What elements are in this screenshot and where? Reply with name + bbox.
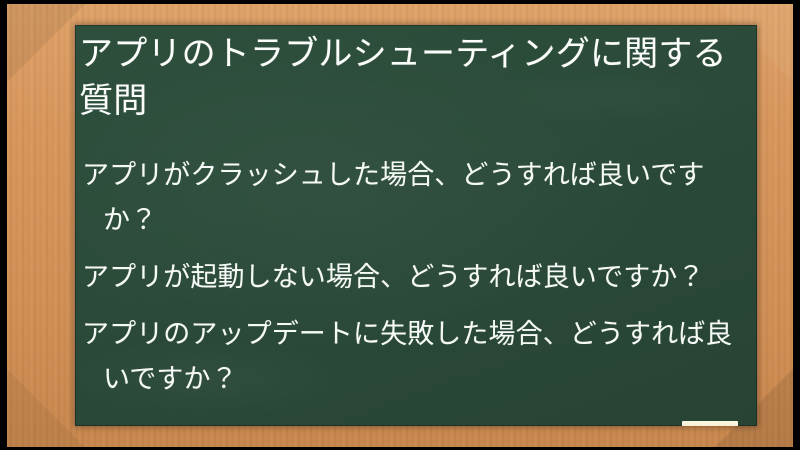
question-list: アプリがクラッシュした場合、どうすれば良いですか？ アプリが起動しない場合、どう…: [75, 153, 757, 402]
question-item-2: アプリが起動しない場合、どうすれば良いですか？: [103, 255, 753, 300]
chalkboard-wooden-frame: アプリのトラブルシューティングに関する質問 アプリがクラッシュした場合、どうすれ…: [7, 4, 793, 447]
question-item-3: アプリのアップデートに失敗した場合、どうすれば良いですか？: [103, 312, 753, 402]
chalkboard-surface: アプリのトラブルシューティングに関する質問 アプリがクラッシュした場合、どうすれ…: [75, 25, 757, 426]
board-title: アプリのトラブルシューティングに関する質問: [75, 31, 757, 125]
chalk-stick-icon: [682, 421, 738, 426]
frame-miter-top-left: [7, 4, 85, 82]
frame-miter-bottom-left: [7, 369, 85, 447]
slide-canvas: アプリのトラブルシューティングに関する質問 アプリがクラッシュした場合、どうすれ…: [0, 0, 800, 450]
question-item-1: アプリがクラッシュした場合、どうすれば良いですか？: [103, 153, 753, 243]
